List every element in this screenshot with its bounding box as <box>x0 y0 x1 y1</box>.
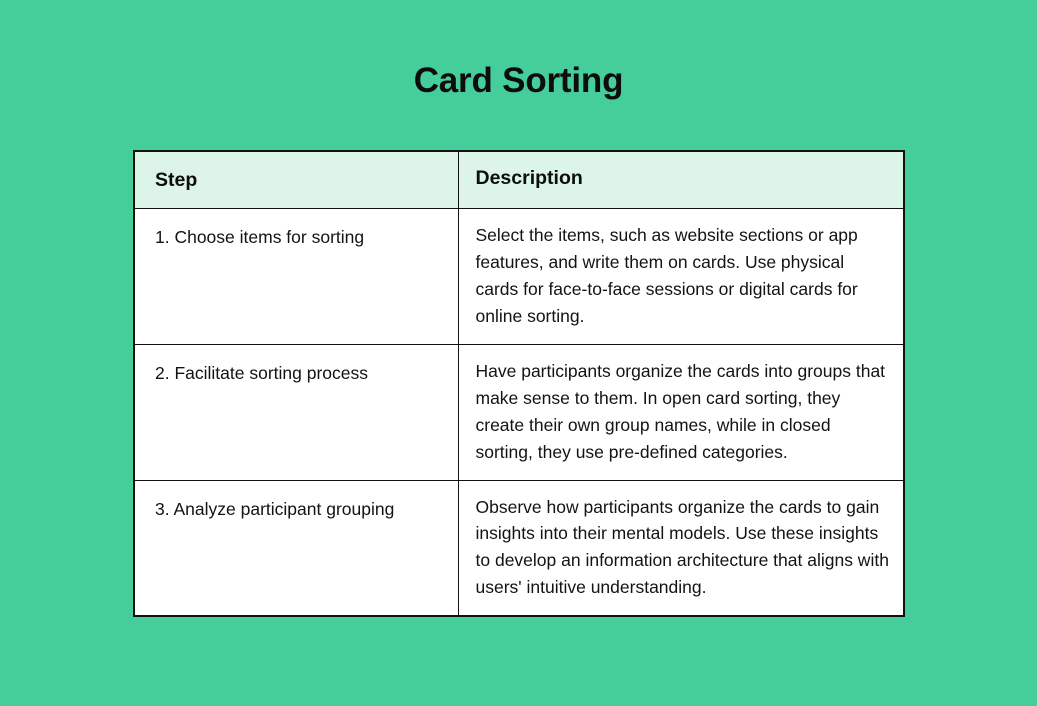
cell-description-text: Observe how participants organize the ca… <box>459 481 904 616</box>
cell-step-text: 1. Choose items for sorting <box>135 209 458 267</box>
table-row: 3. Analyze participant grouping Observe … <box>134 480 904 616</box>
column-header-step-label: Step <box>135 152 458 192</box>
table-row: 1. Choose items for sorting Select the i… <box>134 209 904 345</box>
column-header-description-label: Description <box>459 152 904 190</box>
table-body: 1. Choose items for sorting Select the i… <box>134 209 904 617</box>
table-row: 2. Facilitate sorting process Have parti… <box>134 344 904 480</box>
cell-step: 3. Analyze participant grouping <box>134 480 458 616</box>
cell-step: 1. Choose items for sorting <box>134 209 458 345</box>
cell-description-text: Select the items, such as website sectio… <box>459 209 904 344</box>
cell-description: Have participants organize the cards int… <box>458 344 904 480</box>
table-header: Step Description <box>134 151 904 209</box>
cell-step-text: 3. Analyze participant grouping <box>135 481 458 539</box>
page-title: Card Sorting <box>0 60 1037 102</box>
cell-description: Observe how participants organize the ca… <box>458 480 904 616</box>
table-header-row: Step Description <box>134 151 904 209</box>
cell-description-text: Have participants organize the cards int… <box>459 345 904 480</box>
column-header-description: Description <box>458 151 904 209</box>
cell-step: 2. Facilitate sorting process <box>134 344 458 480</box>
card-sorting-table: Step Description 1. Choose items for sor… <box>133 150 905 617</box>
cell-description: Select the items, such as website sectio… <box>458 209 904 345</box>
cell-step-text: 2. Facilitate sorting process <box>135 345 458 403</box>
card-sorting-table-wrapper: Step Description 1. Choose items for sor… <box>133 150 903 617</box>
page-root: Card Sorting Step Description <box>0 0 1037 706</box>
column-header-step: Step <box>134 151 458 209</box>
